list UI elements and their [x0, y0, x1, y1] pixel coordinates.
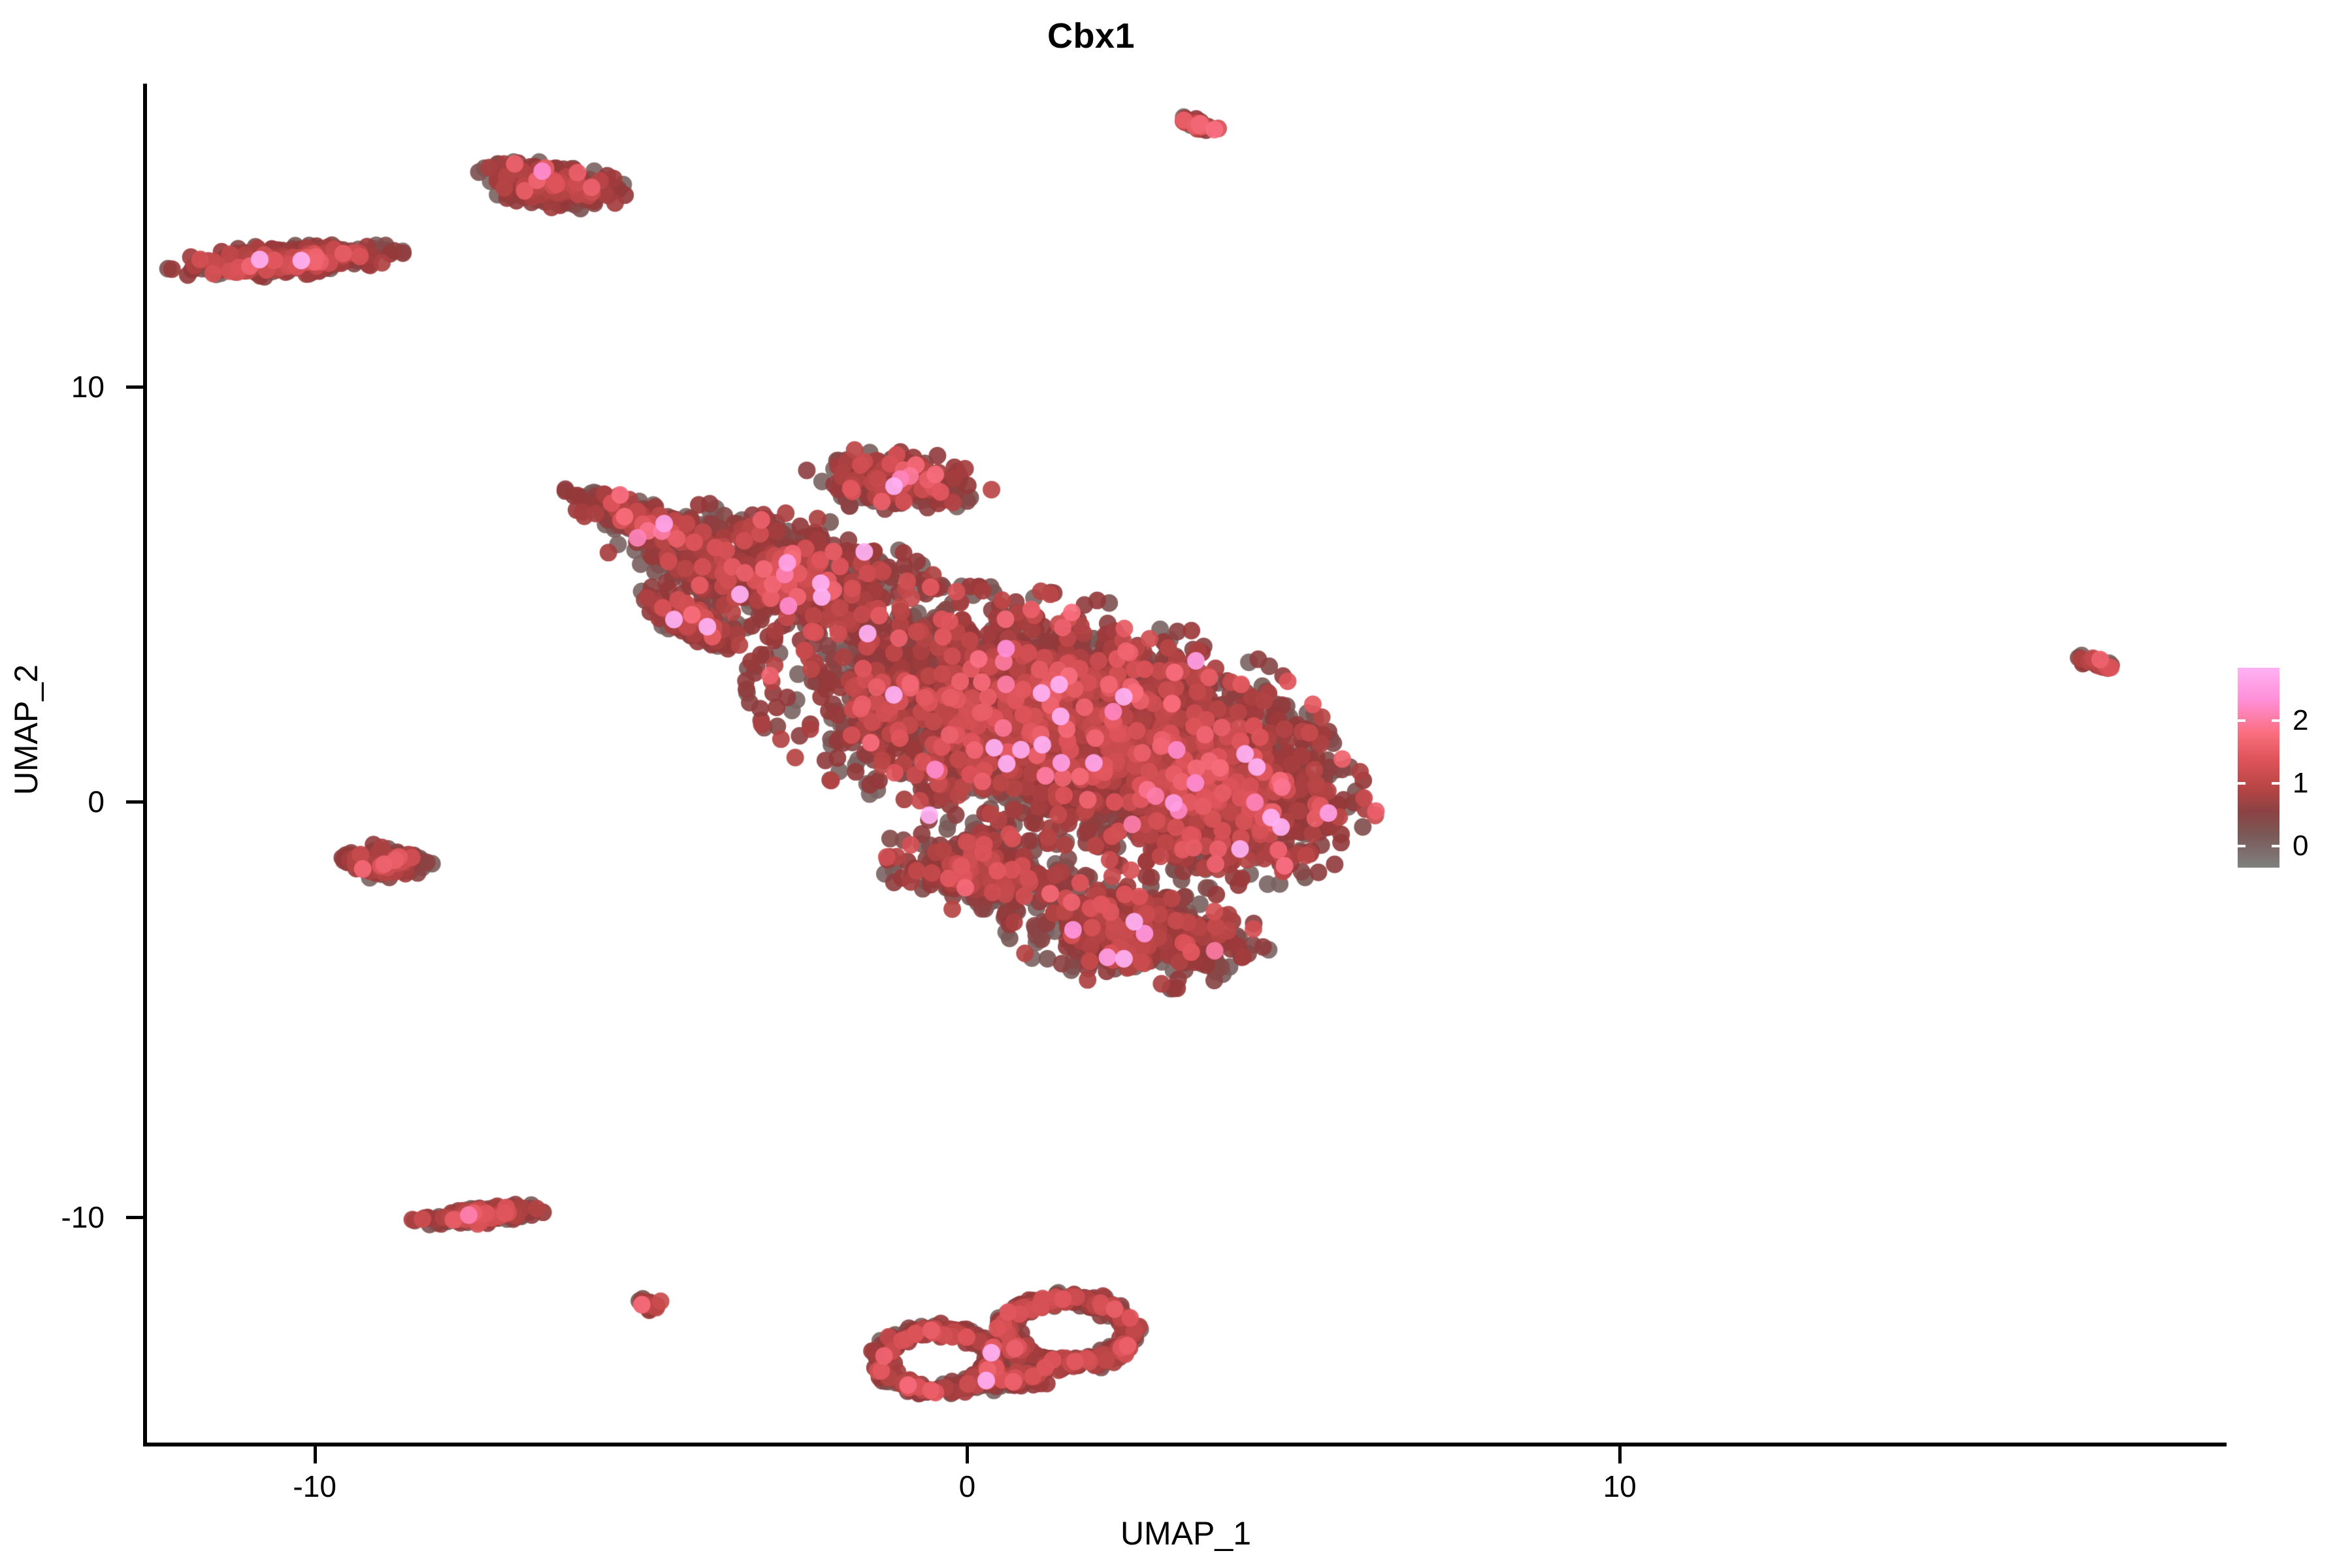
colorbar-label-2: 2	[2293, 706, 2308, 735]
y-tick-10	[126, 385, 143, 389]
colorbar-tick-2	[2272, 719, 2279, 722]
x-axis-line	[145, 1443, 2227, 1446]
colorbar-label-0: 0	[2293, 832, 2308, 860]
x-tick-label-10: 10	[1522, 1471, 1718, 1501]
x-tick-label-0: 0	[869, 1471, 1065, 1501]
y-tick-0	[126, 800, 143, 804]
scatter-plot-canvas	[145, 84, 2227, 1445]
colorbar-tick-2	[2238, 719, 2246, 722]
colorbar-tick-1	[2238, 782, 2246, 785]
y-tick--10	[126, 1216, 143, 1219]
plot-panel	[145, 84, 2227, 1445]
colorbar-tick-0	[2272, 845, 2279, 847]
x-tick--10	[314, 1446, 317, 1463]
colorbar-tick-0	[2238, 845, 2246, 847]
x-tick-label--10: -10	[217, 1471, 413, 1501]
x-axis-title: UMAP_1	[145, 1517, 2227, 1550]
y-axis-line	[143, 84, 147, 1446]
y-axis-title: UMAP_2	[10, 501, 42, 958]
y-tick-label-10: 10	[0, 372, 105, 402]
colorbar-label-1: 1	[2293, 769, 2308, 798]
colorbar-legend: 012	[2238, 668, 2349, 874]
y-tick-label--10: -10	[0, 1202, 105, 1232]
x-tick-10	[1618, 1446, 1622, 1463]
page-title: Cbx1	[0, 18, 2182, 54]
colorbar-tick-1	[2272, 782, 2279, 785]
umap-feature-plot: Cbx1 -10010 -10010 UMAP_1 UMAP_2 012	[0, 0, 2352, 1568]
colorbar-gradient	[2238, 668, 2279, 868]
x-tick-0	[966, 1446, 969, 1463]
